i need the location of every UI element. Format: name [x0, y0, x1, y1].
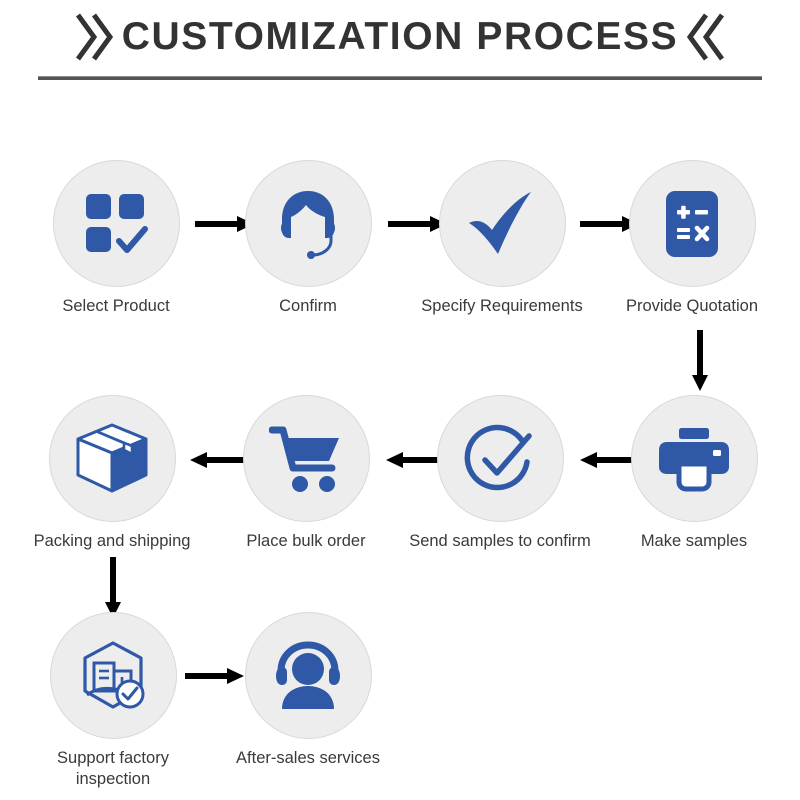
shopping-cart-icon — [269, 424, 343, 494]
step-icon-circle — [245, 160, 372, 287]
step-label: Confirm — [213, 296, 403, 317]
circle-check-icon — [463, 422, 537, 496]
step-icon-circle — [439, 160, 566, 287]
process-row-2: Packing and shipping Place bulk order — [0, 395, 800, 570]
title-divider — [38, 76, 762, 80]
process-row-3: Support factory inspection After-sales s… — [0, 612, 800, 792]
step-icon-circle — [631, 395, 758, 522]
step-provide-quotation[interactable]: Provide Quotation — [602, 160, 782, 317]
step-support-factory-inspection[interactable]: Support factory inspection — [23, 612, 203, 790]
step-label: Place bulk order — [211, 531, 401, 552]
double-chevron-left-icon — [684, 11, 728, 63]
process-row-1: Select Product Confirm — [0, 160, 800, 330]
factory-inspection-icon — [76, 639, 150, 713]
arrow-down-icon — [103, 557, 123, 619]
step-icon-circle — [629, 160, 756, 287]
headset-agent-icon — [272, 187, 344, 261]
calculator-icon — [662, 188, 722, 260]
double-chevron-right-icon — [72, 11, 116, 63]
step-label: Send samples to confirm — [405, 531, 595, 552]
step-label: Support factory inspection — [18, 748, 208, 790]
page-title: CUSTOMIZATION PROCESS — [122, 15, 679, 59]
step-make-samples[interactable]: Make samples — [604, 395, 784, 552]
step-label: After-sales services — [213, 748, 403, 769]
package-box-icon — [74, 422, 150, 496]
step-select-product[interactable]: Select Product — [26, 160, 206, 317]
step-label: Specify Requirements — [407, 296, 597, 317]
step-icon-circle — [243, 395, 370, 522]
step-confirm[interactable]: Confirm — [218, 160, 398, 317]
title-row: CUSTOMIZATION PROCESS — [0, 8, 800, 66]
step-icon-circle — [437, 395, 564, 522]
step-packing-and-shipping[interactable]: Packing and shipping — [22, 395, 202, 552]
step-icon-circle — [53, 160, 180, 287]
step-icon-circle — [49, 395, 176, 522]
step-label: Packing and shipping — [17, 531, 207, 552]
step-specify-requirements[interactable]: Specify Requirements — [412, 160, 592, 317]
checkmark-icon — [465, 189, 539, 259]
page-header: CUSTOMIZATION PROCESS — [0, 0, 800, 92]
support-person-icon — [271, 641, 345, 711]
step-place-bulk-order[interactable]: Place bulk order — [216, 395, 396, 552]
arrow-down-icon — [690, 330, 710, 392]
step-send-samples-to-confirm[interactable]: Send samples to confirm — [410, 395, 590, 552]
printer-icon — [657, 426, 731, 492]
grid-check-icon — [83, 191, 149, 257]
step-icon-circle — [50, 612, 177, 739]
step-label: Provide Quotation — [597, 296, 787, 317]
step-label: Make samples — [599, 531, 789, 552]
customization-process-infographic: CUSTOMIZATION PROCESS Select Product — [0, 0, 800, 800]
step-icon-circle — [245, 612, 372, 739]
step-label: Select Product — [21, 296, 211, 317]
step-after-sales-services[interactable]: After-sales services — [218, 612, 398, 769]
